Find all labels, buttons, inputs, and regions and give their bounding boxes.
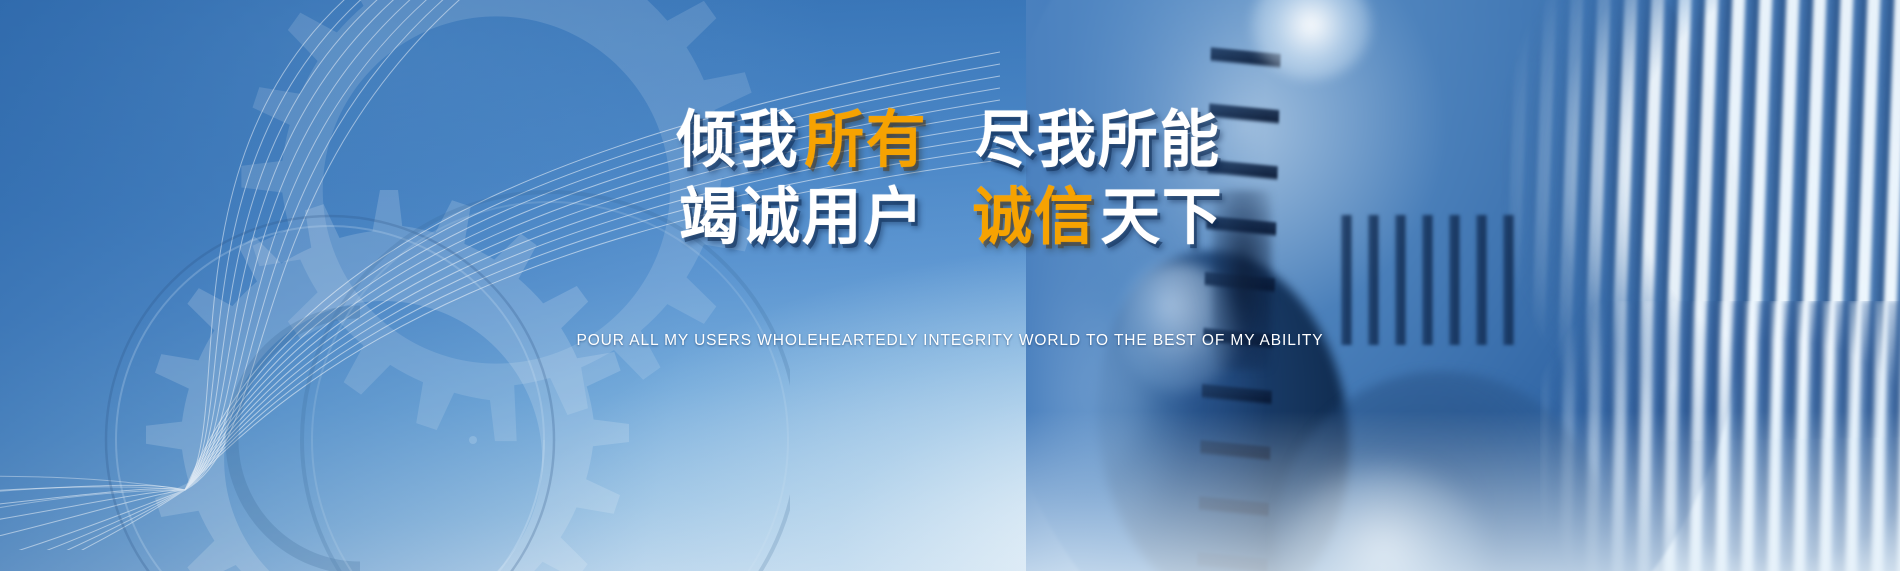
slogan-line1-seg3: 尽我所能 bbox=[975, 108, 1221, 172]
slogan-line1-seg1: 倾我 bbox=[677, 108, 800, 172]
banner-subtitle: POUR ALL MY USERS WHOLEHEARTEDLY INTEGRI… bbox=[0, 332, 1900, 350]
photo-bottom-fade bbox=[1026, 411, 1900, 571]
slogan-line2-seg3: 天下 bbox=[1101, 185, 1224, 249]
machine-gears-photo bbox=[1026, 0, 1900, 571]
slogan-line-2: 竭诚用户诚信天下 bbox=[0, 185, 1900, 250]
slogan-line-1: 倾我所有尽我所能 bbox=[0, 108, 1900, 173]
hero-banner: 倾我所有尽我所能 竭诚用户诚信天下 POUR ALL MY USERS WHOL… bbox=[0, 0, 1900, 571]
slogan-line2-seg1: 竭诚用户 bbox=[679, 185, 925, 249]
background-left-wash bbox=[0, 0, 1102, 571]
slogan-line2-seg2: 诚信 bbox=[973, 185, 1096, 249]
slogan-line1-seg2: 所有 bbox=[805, 108, 928, 172]
slogan-block: 倾我所有尽我所能 竭诚用户诚信天下 bbox=[0, 108, 1900, 251]
